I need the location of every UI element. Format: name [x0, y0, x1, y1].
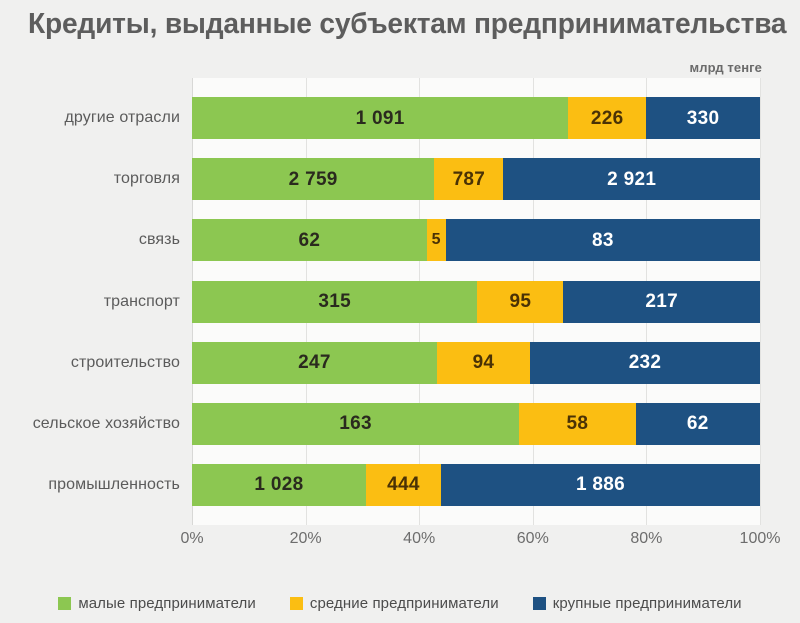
bar-value-label: 58 [566, 414, 588, 433]
bar-value-label: 62 [299, 231, 321, 250]
bar-segment[interactable]: 1 091 [192, 97, 568, 139]
bar-row: 62583 [192, 219, 760, 261]
chart-units-label: млрд тенге [690, 60, 762, 75]
x-axis-tick-label: 100% [740, 530, 781, 548]
legend-swatch [58, 597, 71, 610]
legend-label: средние предприниматели [310, 595, 499, 612]
bar-value-label: 232 [629, 353, 662, 372]
x-axis-tick-label: 60% [517, 530, 549, 548]
bar-value-label: 1 886 [576, 475, 625, 494]
category-axis-labels: другие отраслиторговлясвязьтранспортстро… [0, 78, 180, 525]
bar-value-label: 83 [592, 231, 614, 250]
x-axis-tick-label: 80% [630, 530, 662, 548]
bar-segment[interactable]: 94 [437, 342, 530, 384]
bar-value-label: 226 [591, 109, 624, 128]
bar-value-label: 5 [432, 232, 441, 248]
plot-area: 1 0912263302 7597872 9216258331595217247… [192, 78, 760, 525]
bar-segment[interactable]: 232 [530, 342, 760, 384]
bar-rows: 1 0912263302 7597872 9216258331595217247… [192, 78, 760, 525]
category-label: сельское хозяйство [0, 403, 180, 445]
x-axis: 0%20%40%60%80%100% [192, 530, 760, 558]
bar-row: 1635862 [192, 403, 760, 445]
bar-segment[interactable]: 163 [192, 403, 519, 445]
bar-segment[interactable]: 247 [192, 342, 437, 384]
bar-value-label: 787 [453, 170, 486, 189]
bar-value-label: 94 [473, 353, 495, 372]
bar-segment[interactable]: 62 [636, 403, 760, 445]
bar-value-label: 247 [298, 353, 331, 372]
category-label: связь [0, 219, 180, 261]
bar-segment[interactable]: 1 028 [192, 464, 366, 506]
x-axis-tick-label: 0% [180, 530, 203, 548]
bar-segment[interactable]: 2 921 [503, 158, 760, 200]
category-label: торговля [0, 158, 180, 200]
legend-swatch [533, 597, 546, 610]
bar-value-label: 62 [687, 414, 709, 433]
bar-segment[interactable]: 226 [568, 97, 646, 139]
bar-row: 2 7597872 921 [192, 158, 760, 200]
bar-segment[interactable]: 444 [366, 464, 441, 506]
legend-label: крупные предприниматели [553, 595, 742, 612]
bar-segment[interactable]: 315 [192, 281, 477, 323]
category-label: строительство [0, 342, 180, 384]
gridline [760, 78, 761, 525]
bar-segment[interactable]: 787 [434, 158, 503, 200]
bar-segment[interactable]: 5 [427, 219, 446, 261]
bar-segment[interactable]: 58 [519, 403, 635, 445]
legend-item[interactable]: средние предприниматели [290, 595, 499, 612]
category-label: другие отрасли [0, 97, 180, 139]
category-label: промышленность [0, 464, 180, 506]
legend-label: малые предприниматели [78, 595, 256, 612]
bar-segment[interactable]: 2 759 [192, 158, 434, 200]
bar-value-label: 163 [339, 414, 372, 433]
legend-item[interactable]: крупные предприниматели [533, 595, 742, 612]
chart-container: Кредиты, выданные субъектам предпринимат… [0, 0, 800, 623]
chart-title: Кредиты, выданные субъектам предпринимат… [28, 8, 765, 41]
bar-value-label: 2 921 [607, 170, 656, 189]
bar-value-label: 330 [687, 109, 720, 128]
bar-row: 24794232 [192, 342, 760, 384]
category-label: транспорт [0, 281, 180, 323]
bar-row: 1 091226330 [192, 97, 760, 139]
bar-value-label: 444 [387, 475, 420, 494]
legend-swatch [290, 597, 303, 610]
bar-value-label: 95 [510, 292, 532, 311]
x-axis-tick-label: 20% [290, 530, 322, 548]
bar-value-label: 2 759 [289, 170, 338, 189]
bar-value-label: 315 [318, 292, 351, 311]
bar-row: 31595217 [192, 281, 760, 323]
bar-segment[interactable]: 95 [477, 281, 563, 323]
bar-value-label: 1 091 [356, 109, 405, 128]
bar-row: 1 0284441 886 [192, 464, 760, 506]
bar-value-label: 1 028 [254, 475, 303, 494]
bar-segment[interactable]: 217 [563, 281, 760, 323]
bar-segment[interactable]: 330 [646, 97, 760, 139]
legend-item[interactable]: малые предприниматели [58, 595, 256, 612]
bar-segment[interactable]: 83 [446, 219, 760, 261]
bar-value-label: 217 [645, 292, 678, 311]
x-axis-tick-label: 40% [403, 530, 435, 548]
bar-segment[interactable]: 62 [192, 219, 427, 261]
chart-legend: малые предпринимателисредние предпринима… [0, 588, 800, 618]
bar-segment[interactable]: 1 886 [441, 464, 760, 506]
